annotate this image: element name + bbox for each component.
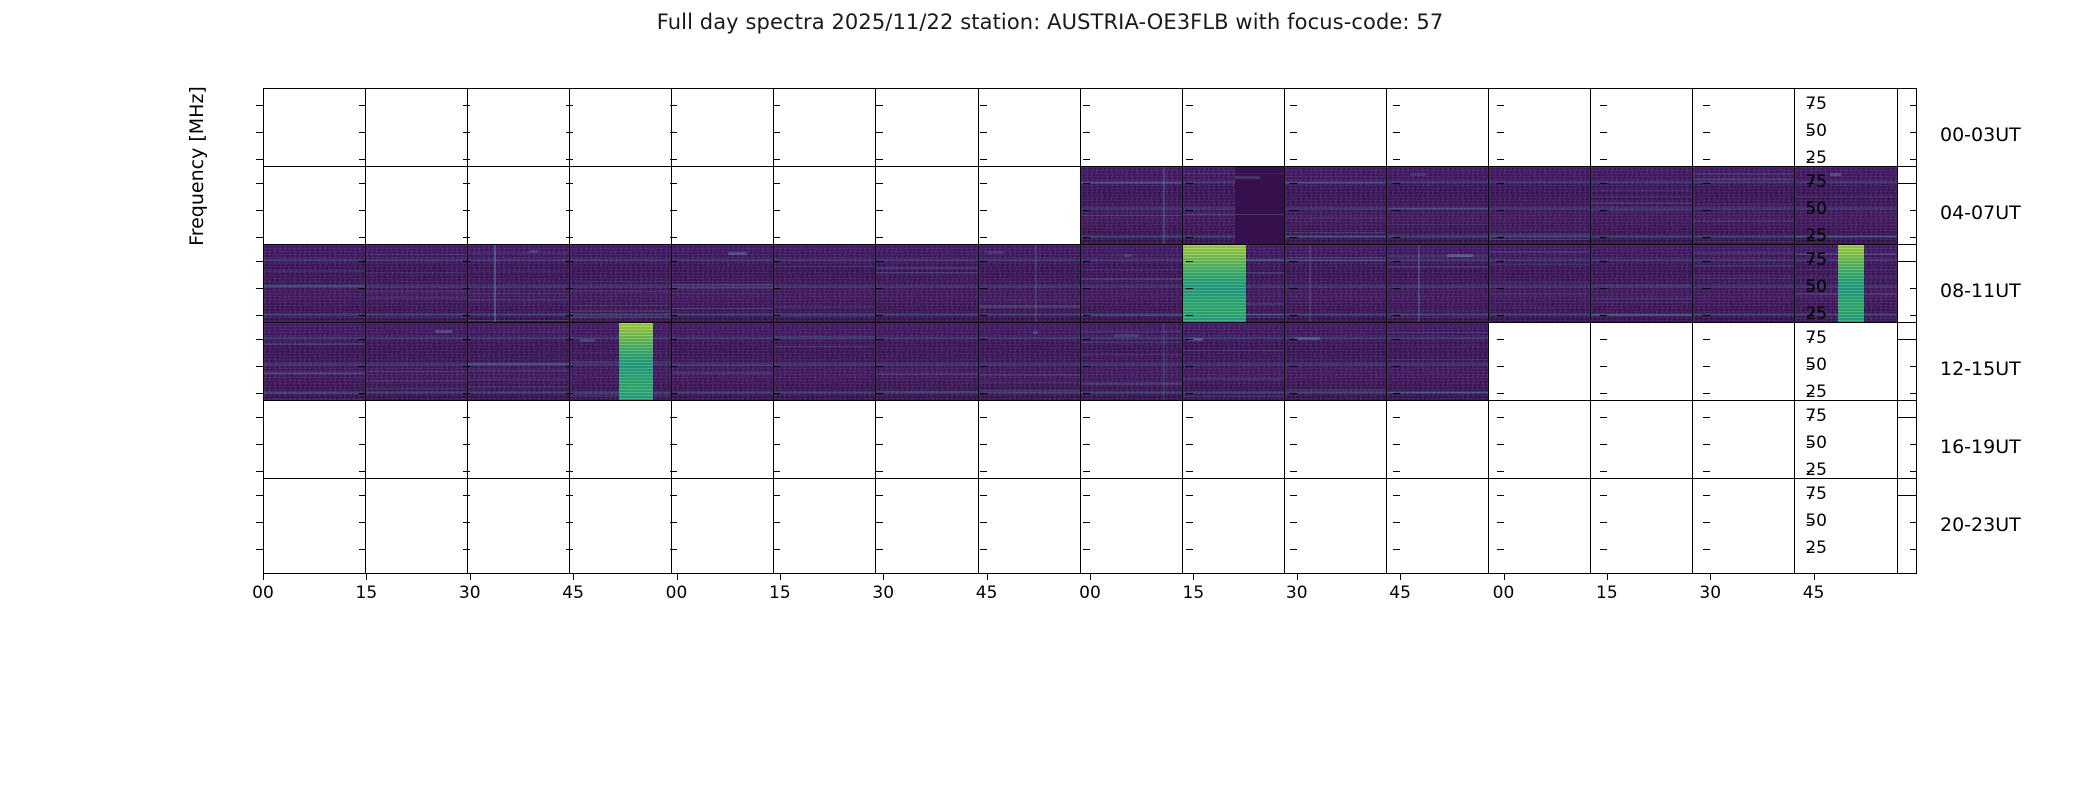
y-tick-mark: [773, 132, 780, 133]
y-tick-mark: [1600, 549, 1607, 550]
y-tick-mark: [1807, 132, 1814, 133]
x-tick-label: 00: [1070, 583, 1110, 603]
x-tick-mark: [263, 574, 264, 580]
y-tick-mark: [670, 495, 677, 496]
y-axis-label: Frequency [MHz]: [186, 46, 208, 286]
y-tick-label: 50: [1767, 277, 1827, 297]
y-tick-mark: [1497, 315, 1504, 316]
row-time-label: 16-19UT: [1940, 436, 2021, 458]
y-tick-mark: [773, 210, 780, 211]
y-tick-mark: [1910, 471, 1917, 472]
y-tick-mark: [1910, 339, 1917, 340]
y-tick-mark: [566, 261, 573, 262]
y-tick-label: 25: [1767, 148, 1827, 168]
y-tick-mark: [773, 522, 780, 523]
y-tick-mark: [463, 288, 470, 289]
y-tick-mark: [256, 315, 263, 316]
y-tick-mark: [1807, 366, 1814, 367]
y-tick-mark: [463, 417, 470, 418]
y-tick-mark: [463, 339, 470, 340]
x-tick-mark: [883, 574, 884, 580]
x-tick-mark: [1090, 574, 1091, 580]
y-tick-mark: [359, 288, 366, 289]
y-tick-mark: [1393, 105, 1400, 106]
x-tick-label: 30: [863, 583, 903, 603]
y-tick-mark: [1083, 366, 1090, 367]
y-tick-mark: [359, 132, 366, 133]
y-tick-mark: [980, 339, 987, 340]
y-tick-mark: [980, 237, 987, 238]
y-tick-mark: [1600, 417, 1607, 418]
y-tick-label: 25: [1767, 538, 1827, 558]
y-tick-mark: [1186, 288, 1193, 289]
x-tick-label: 00: [243, 583, 283, 603]
y-tick-mark: [876, 417, 883, 418]
y-tick-mark: [1083, 210, 1090, 211]
spectrogram-panel[interactable]: [467, 478, 570, 574]
spectrogram-panel[interactable]: [569, 478, 672, 574]
y-tick-mark: [1703, 471, 1710, 472]
y-tick-mark: [876, 549, 883, 550]
y-tick-mark: [1600, 261, 1607, 262]
y-tick-mark: [256, 339, 263, 340]
y-tick-mark: [1290, 495, 1297, 496]
y-tick-mark: [1393, 339, 1400, 340]
y-tick-mark: [1600, 237, 1607, 238]
spectrogram-figure: Full day spectra 2025/11/22 station: AUS…: [0, 0, 2100, 800]
y-tick-mark: [1600, 339, 1607, 340]
y-tick-mark: [876, 210, 883, 211]
y-tick-mark: [1703, 132, 1710, 133]
y-tick-mark: [1600, 105, 1607, 106]
row-time-label: 04-07UT: [1940, 202, 2021, 224]
y-tick-mark: [670, 417, 677, 418]
y-tick-mark: [1290, 261, 1297, 262]
y-tick-mark: [1807, 339, 1814, 340]
y-tick-mark: [359, 471, 366, 472]
y-tick-mark: [980, 105, 987, 106]
y-tick-mark: [1290, 288, 1297, 289]
y-tick-mark: [1497, 288, 1504, 289]
y-tick-mark: [876, 315, 883, 316]
y-tick-mark: [1497, 444, 1504, 445]
y-tick-mark: [1083, 522, 1090, 523]
y-tick-mark: [1290, 339, 1297, 340]
y-tick-mark: [1497, 159, 1504, 160]
y-tick-mark: [876, 237, 883, 238]
y-tick-mark: [1290, 210, 1297, 211]
y-tick-mark: [1290, 417, 1297, 418]
y-tick-mark: [1910, 495, 1917, 496]
y-tick-mark: [670, 183, 677, 184]
x-tick-label: 15: [1173, 583, 1213, 603]
y-tick-mark: [1393, 366, 1400, 367]
y-tick-mark: [566, 393, 573, 394]
x-tick-mark: [573, 574, 574, 580]
y-tick-mark: [1083, 159, 1090, 160]
y-tick-mark: [1910, 288, 1917, 289]
y-tick-mark: [670, 549, 677, 550]
y-tick-label: 25: [1767, 382, 1827, 402]
y-tick-mark: [359, 495, 366, 496]
y-tick-mark: [463, 132, 470, 133]
y-tick-mark: [1186, 210, 1193, 211]
y-tick-mark: [1186, 183, 1193, 184]
y-tick-mark: [256, 393, 263, 394]
y-tick-mark: [876, 471, 883, 472]
y-tick-mark: [876, 261, 883, 262]
x-tick-label: 15: [346, 583, 386, 603]
y-tick-mark: [670, 393, 677, 394]
y-tick-mark: [1083, 444, 1090, 445]
y-tick-mark: [1083, 417, 1090, 418]
y-tick-mark: [1807, 261, 1814, 262]
y-tick-mark: [670, 210, 677, 211]
y-tick-mark: [256, 366, 263, 367]
y-tick-mark: [1497, 471, 1504, 472]
spectrogram-panel[interactable]: [365, 478, 468, 574]
y-tick-mark: [463, 549, 470, 550]
y-tick-mark: [1290, 105, 1297, 106]
y-tick-mark: [566, 366, 573, 367]
y-tick-mark: [463, 210, 470, 211]
y-tick-mark: [1600, 210, 1607, 211]
y-tick-mark: [1393, 159, 1400, 160]
y-tick-mark: [773, 339, 780, 340]
y-tick-mark: [463, 471, 470, 472]
x-axis: 00153045001530450015304500153045: [0, 0, 2100, 40]
y-tick-mark: [566, 549, 573, 550]
y-tick-mark: [1497, 210, 1504, 211]
y-tick-mark: [359, 393, 366, 394]
y-tick-mark: [980, 159, 987, 160]
y-tick-mark: [1703, 261, 1710, 262]
y-tick-mark: [773, 159, 780, 160]
y-tick-mark: [773, 183, 780, 184]
y-tick-mark: [1497, 549, 1504, 550]
x-tick-label: 30: [1277, 583, 1317, 603]
y-tick-mark: [1600, 132, 1607, 133]
y-tick-mark: [670, 159, 677, 160]
y-tick-mark: [1186, 471, 1193, 472]
x-tick-label: 45: [967, 583, 1007, 603]
y-tick-mark: [256, 471, 263, 472]
y-tick-mark: [1186, 105, 1193, 106]
y-tick-mark: [1703, 237, 1710, 238]
y-tick-mark: [1600, 393, 1607, 394]
y-tick-mark: [1083, 549, 1090, 550]
y-tick-mark: [566, 417, 573, 418]
y-tick-mark: [1186, 495, 1193, 496]
y-tick-mark: [463, 183, 470, 184]
y-tick-mark: [1807, 471, 1814, 472]
spectrogram-row: [263, 478, 1917, 574]
y-tick-mark: [670, 339, 677, 340]
y-tick-mark: [1910, 132, 1917, 133]
y-tick-mark: [1497, 393, 1504, 394]
y-tick-mark: [1910, 315, 1917, 316]
y-tick-mark: [980, 288, 987, 289]
spectrogram-panel[interactable]: [773, 478, 876, 574]
y-tick-mark: [1186, 261, 1193, 262]
y-tick-mark: [1703, 183, 1710, 184]
y-tick-mark: [1186, 522, 1193, 523]
spectrogram-panel[interactable]: [1590, 478, 1693, 574]
spectrogram-panel[interactable]: [671, 478, 774, 574]
y-tick-mark: [359, 210, 366, 211]
y-tick-mark: [980, 417, 987, 418]
y-tick-mark: [359, 366, 366, 367]
y-tick-mark: [359, 417, 366, 418]
spectrogram-panel[interactable]: [1284, 478, 1387, 574]
row-time-label: 12-15UT: [1940, 358, 2021, 380]
x-tick-label: 00: [657, 583, 697, 603]
y-tick-mark: [566, 132, 573, 133]
y-tick-mark: [1083, 105, 1090, 106]
y-tick-mark: [980, 444, 987, 445]
spectrogram-panel[interactable]: [875, 478, 978, 574]
y-tick-mark: [256, 132, 263, 133]
x-tick-mark: [1710, 574, 1711, 580]
y-tick-mark: [1083, 495, 1090, 496]
y-tick-mark: [1083, 132, 1090, 133]
y-tick-mark: [1807, 417, 1814, 418]
y-tick-label: 75: [1767, 250, 1827, 270]
y-tick-mark: [359, 315, 366, 316]
y-tick-mark: [980, 522, 987, 523]
y-tick-mark: [1186, 549, 1193, 550]
y-tick-mark: [1910, 366, 1917, 367]
y-tick-mark: [256, 495, 263, 496]
y-tick-label: 75: [1767, 406, 1827, 426]
y-tick-mark: [773, 105, 780, 106]
y-tick-mark: [566, 444, 573, 445]
y-tick-mark: [463, 444, 470, 445]
y-tick-mark: [1910, 393, 1917, 394]
y-tick-mark: [256, 183, 263, 184]
y-tick-mark: [359, 522, 366, 523]
y-tick-mark: [1910, 237, 1917, 238]
y-tick-mark: [256, 210, 263, 211]
y-tick-mark: [980, 495, 987, 496]
y-tick-mark: [463, 315, 470, 316]
spectrogram-panel[interactable]: [1080, 478, 1183, 574]
y-tick-label: 25: [1767, 460, 1827, 480]
x-tick-mark: [780, 574, 781, 580]
y-tick-mark: [1703, 288, 1710, 289]
y-tick-mark: [876, 288, 883, 289]
y-tick-mark: [1807, 393, 1814, 394]
x-tick-mark: [1193, 574, 1194, 580]
y-tick-mark: [1290, 444, 1297, 445]
y-tick-mark: [1703, 159, 1710, 160]
y-tick-mark: [1703, 444, 1710, 445]
y-tick-mark: [980, 393, 987, 394]
y-tick-mark: [566, 288, 573, 289]
y-tick-mark: [980, 261, 987, 262]
y-tick-mark: [1186, 132, 1193, 133]
x-tick-label: 45: [1794, 583, 1834, 603]
y-tick-mark: [1703, 522, 1710, 523]
y-tick-mark: [876, 444, 883, 445]
y-tick-mark: [980, 549, 987, 550]
y-tick-mark: [1290, 471, 1297, 472]
y-tick-mark: [1393, 495, 1400, 496]
y-tick-mark: [980, 183, 987, 184]
y-tick-mark: [1703, 366, 1710, 367]
y-tick-mark: [1807, 549, 1814, 550]
y-tick-mark: [1807, 315, 1814, 316]
y-tick-mark: [670, 288, 677, 289]
y-tick-mark: [876, 183, 883, 184]
y-tick-mark: [256, 159, 263, 160]
y-tick-mark: [1083, 288, 1090, 289]
y-tick-mark: [1290, 315, 1297, 316]
y-tick-mark: [1910, 261, 1917, 262]
y-tick-mark: [1186, 339, 1193, 340]
y-tick-mark: [1290, 393, 1297, 394]
y-tick-mark: [1393, 237, 1400, 238]
y-tick-mark: [1807, 183, 1814, 184]
y-tick-mark: [876, 522, 883, 523]
y-tick-mark: [1807, 288, 1814, 289]
spectrogram-panel[interactable]: [1488, 478, 1591, 574]
y-tick-mark: [876, 105, 883, 106]
y-tick-mark: [463, 522, 470, 523]
y-tick-mark: [1910, 522, 1917, 523]
y-tick-mark: [1393, 471, 1400, 472]
y-tick-mark: [566, 210, 573, 211]
x-tick-mark: [1814, 574, 1815, 580]
y-tick-mark: [566, 339, 573, 340]
y-tick-mark: [1497, 105, 1504, 106]
x-tick-mark: [677, 574, 678, 580]
y-tick-mark: [1186, 315, 1193, 316]
y-tick-mark: [980, 315, 987, 316]
y-tick-label: 75: [1767, 484, 1827, 504]
y-tick-mark: [773, 315, 780, 316]
x-tick-mark: [987, 574, 988, 580]
y-tick-mark: [359, 237, 366, 238]
y-tick-label: 75: [1767, 172, 1827, 192]
spectrogram-panel[interactable]: [263, 478, 366, 574]
y-tick-label: 50: [1767, 199, 1827, 219]
y-tick-mark: [1290, 159, 1297, 160]
y-tick-mark: [1393, 183, 1400, 184]
y-tick-mark: [773, 237, 780, 238]
y-tick-mark: [1910, 105, 1917, 106]
y-tick-mark: [1083, 471, 1090, 472]
y-tick-mark: [1703, 339, 1710, 340]
y-tick-mark: [1393, 417, 1400, 418]
y-tick-mark: [1807, 444, 1814, 445]
y-tick-mark: [359, 159, 366, 160]
y-tick-mark: [1186, 366, 1193, 367]
y-tick-mark: [1807, 495, 1814, 496]
y-tick-mark: [256, 105, 263, 106]
x-tick-label: 15: [760, 583, 800, 603]
y-tick-mark: [1290, 132, 1297, 133]
y-tick-mark: [1497, 132, 1504, 133]
y-tick-label: 50: [1767, 511, 1827, 531]
x-tick-mark: [1607, 574, 1608, 580]
y-tick-mark: [566, 315, 573, 316]
y-tick-mark: [1807, 522, 1814, 523]
y-tick-mark: [773, 549, 780, 550]
spectrogram-panel[interactable]: [1386, 478, 1489, 574]
y-tick-mark: [1186, 237, 1193, 238]
y-tick-mark: [1910, 183, 1917, 184]
x-tick-label: 45: [553, 583, 593, 603]
y-tick-mark: [1497, 495, 1504, 496]
y-tick-mark: [566, 183, 573, 184]
y-tick-mark: [1807, 237, 1814, 238]
y-tick-mark: [566, 522, 573, 523]
y-tick-mark: [256, 549, 263, 550]
x-tick-label: 00: [1484, 583, 1524, 603]
y-tick-mark: [359, 105, 366, 106]
y-tick-mark: [1910, 210, 1917, 211]
y-tick-mark: [1600, 315, 1607, 316]
y-tick-mark: [876, 159, 883, 160]
y-tick-mark: [670, 237, 677, 238]
y-tick-mark: [1393, 444, 1400, 445]
y-tick-mark: [1600, 366, 1607, 367]
spectrogram-panel[interactable]: [978, 478, 1081, 574]
y-tick-mark: [1186, 444, 1193, 445]
y-tick-mark: [1600, 288, 1607, 289]
y-tick-mark: [1290, 183, 1297, 184]
y-tick-mark: [566, 471, 573, 472]
y-tick-mark: [876, 366, 883, 367]
y-tick-mark: [359, 549, 366, 550]
y-tick-mark: [1393, 132, 1400, 133]
y-tick-mark: [1497, 522, 1504, 523]
y-tick-mark: [256, 522, 263, 523]
y-tick-mark: [1186, 159, 1193, 160]
y-tick-label: 50: [1767, 121, 1827, 141]
y-tick-label: 75: [1767, 328, 1827, 348]
y-tick-mark: [1393, 393, 1400, 394]
y-tick-mark: [463, 261, 470, 262]
y-tick-mark: [463, 366, 470, 367]
y-tick-mark: [670, 105, 677, 106]
y-tick-mark: [1290, 366, 1297, 367]
y-tick-mark: [876, 132, 883, 133]
y-tick-mark: [773, 495, 780, 496]
y-tick-mark: [876, 393, 883, 394]
y-tick-mark: [1393, 210, 1400, 211]
x-tick-mark: [366, 574, 367, 580]
y-tick-label: 25: [1767, 304, 1827, 324]
y-tick-mark: [256, 237, 263, 238]
y-tick-mark: [256, 261, 263, 262]
y-tick-mark: [670, 444, 677, 445]
y-tick-mark: [1393, 549, 1400, 550]
spectrogram-panel[interactable]: [1182, 478, 1285, 574]
row-time-label: 00-03UT: [1940, 124, 2021, 146]
y-tick-label: 50: [1767, 433, 1827, 453]
y-tick-mark: [670, 261, 677, 262]
y-tick-mark: [1393, 288, 1400, 289]
x-tick-label: 30: [1690, 583, 1730, 603]
y-tick-mark: [670, 366, 677, 367]
y-tick-mark: [1703, 105, 1710, 106]
y-tick-mark: [1807, 159, 1814, 160]
y-tick-mark: [1910, 444, 1917, 445]
y-tick-mark: [359, 261, 366, 262]
x-tick-mark: [470, 574, 471, 580]
